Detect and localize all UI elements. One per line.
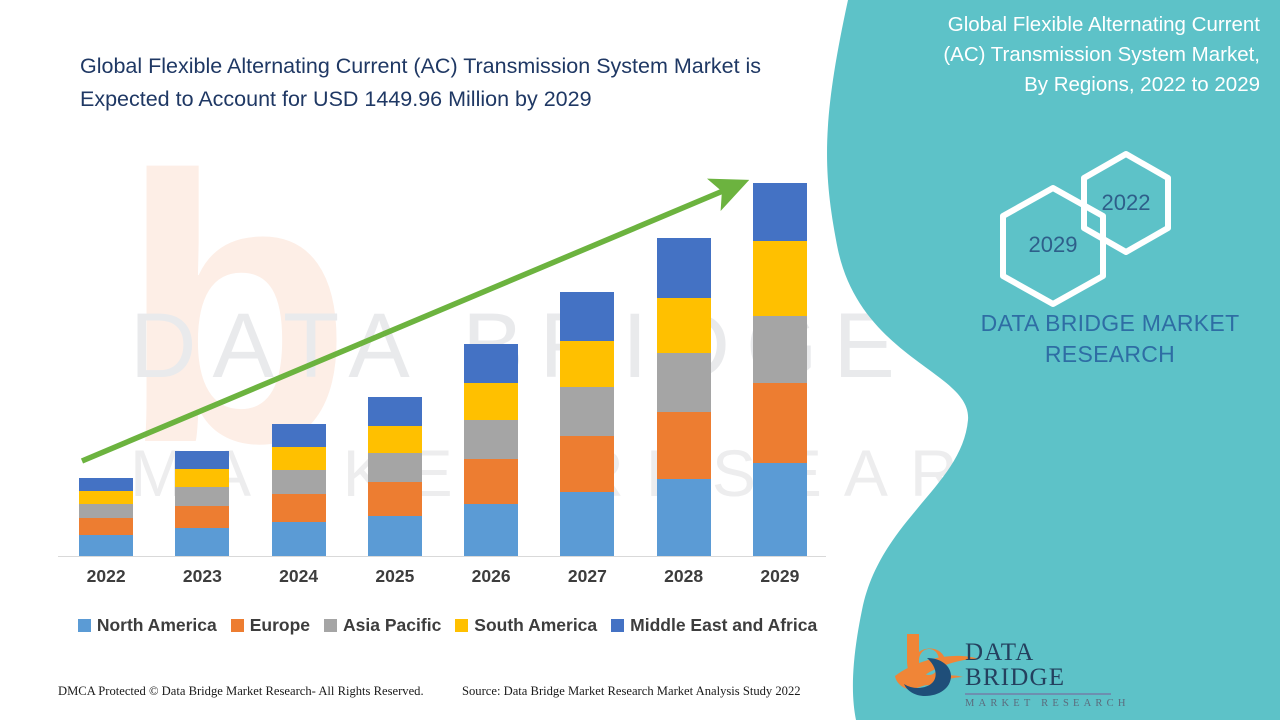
panel-brand-name: DATA BRIDGE MARKET RESEARCH [960,308,1260,370]
hexagon-2029: 2029 [996,184,1110,308]
logo-divider [965,693,1111,695]
panel-title: Global Flexible Alternating Current (AC)… [940,10,1260,100]
panel-brand-line-2: RESEARCH [960,339,1260,370]
infographic-root: b DATA BRIDGE MARKET RESEARCH Global Fle… [0,0,1280,720]
panel-brand-line-1: DATA BRIDGE MARKET [960,308,1260,339]
logo-name: DATA BRIDGE [965,640,1135,690]
hexagon-2029-label: 2029 [996,232,1110,258]
logo-tagline: MARKET RESEARCH [965,698,1135,709]
data-bridge-logo-text: DATA BRIDGE MARKET RESEARCH [965,640,1135,709]
